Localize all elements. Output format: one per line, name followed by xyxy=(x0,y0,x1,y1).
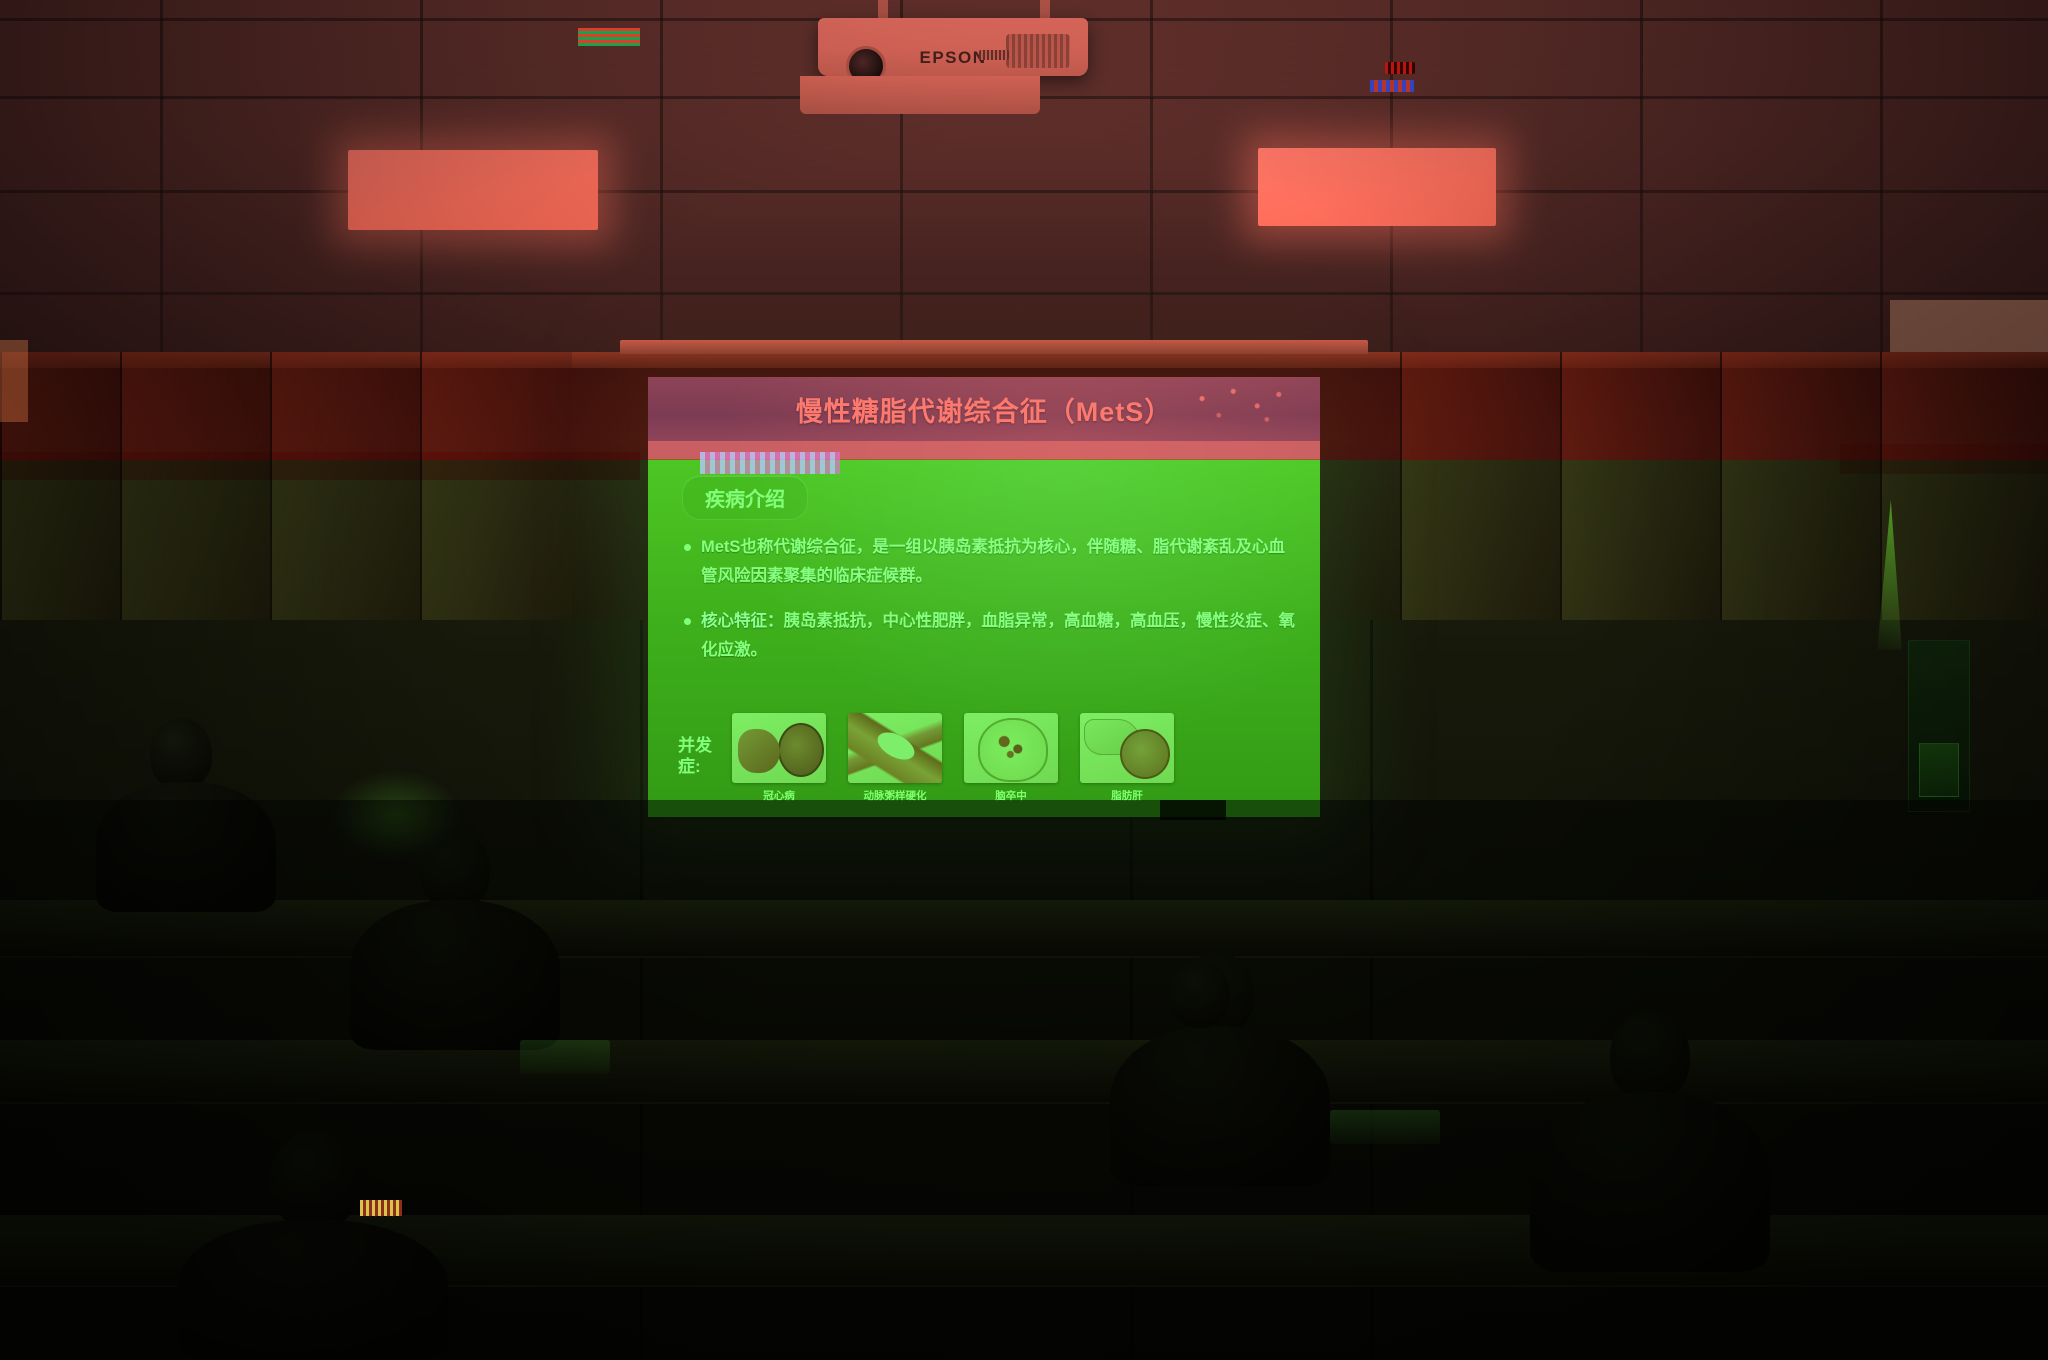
desk-row xyxy=(0,900,2048,958)
fatty-liver-image xyxy=(1080,713,1174,783)
audience-head xyxy=(1170,960,1230,1028)
complication-caption: 脂肪肝 xyxy=(1080,788,1174,803)
slide: 慢性糖脂代谢综合征（MetS） 疾病介绍 MetS也称代谢综合征，是一组以胰岛素… xyxy=(648,377,1320,817)
slide-title-bar: 慢性糖脂代谢综合征（MetS） xyxy=(648,377,1320,441)
slide-body: 疾病介绍 MetS也称代谢综合征，是一组以胰岛素抵抗为核心，伴随糖、脂代谢紊乱及… xyxy=(648,459,1320,817)
screen-housing xyxy=(620,340,1368,354)
audience-head xyxy=(270,1130,360,1230)
slide-section-badge: 疾病介绍 xyxy=(682,475,808,520)
projector-mount xyxy=(800,76,1040,114)
ceiling: EPSON xyxy=(0,0,2048,352)
slide-bullet-item: 核心特征：胰岛素抵抗，中心性肥胖，血脂异常，高血糖，高血压，慢性炎症、氧化应激。 xyxy=(684,607,1298,665)
complication-caption: 脑卒中 xyxy=(964,788,1058,803)
complication-caption: 动脉粥样硬化 xyxy=(848,788,942,803)
audience-body xyxy=(350,900,560,1050)
audience-head xyxy=(150,718,212,790)
wall-panel xyxy=(120,352,272,642)
stroke-image xyxy=(964,713,1058,783)
complication-item: 脂肪肝 xyxy=(1080,713,1174,803)
slide-bullet-list: MetS也称代谢综合征，是一组以胰岛素抵抗为核心，伴随糖、脂代谢紊乱及心血管风险… xyxy=(684,533,1298,681)
cabinet-panel xyxy=(1919,743,1959,797)
wall-panel xyxy=(1560,352,1722,642)
audience-body xyxy=(178,1220,448,1360)
projector: EPSON xyxy=(818,18,1088,76)
bullet-dot-icon xyxy=(684,544,691,551)
projector-brand-label: EPSON xyxy=(919,48,986,68)
slide-sub-bar xyxy=(648,441,1320,459)
slide-title: 慢性糖脂代谢综合征（MetS） xyxy=(796,390,1173,429)
wall-panel xyxy=(0,352,122,642)
slide-complications: 并发症: 冠心病 动脉粥样硬化 脑卒中 xyxy=(678,713,1302,803)
wall-panel xyxy=(1400,352,1562,642)
laptop-screen-glow xyxy=(1330,1110,1440,1144)
projector-badge-icon xyxy=(979,50,1009,60)
audience-body xyxy=(1110,1026,1330,1186)
slide-sparkle-decoration-icon xyxy=(1178,383,1298,435)
screenshot-canvas: EPSON 慢性糖脂代谢综合征（MetS） 疾病介绍 xyxy=(0,0,2048,1360)
complications-items: 冠心病 动脉粥样硬化 脑卒中 脂肪肝 xyxy=(732,713,1302,803)
complication-item: 脑卒中 xyxy=(964,713,1058,803)
desk-row xyxy=(0,1040,2048,1104)
status-led-indicator xyxy=(1385,62,1415,74)
slide-bullet-text: 核心特征：胰岛素抵抗，中心性肥胖，血脂异常，高血糖，高血压，慢性炎症、氧化应激。 xyxy=(701,607,1298,665)
complication-caption: 冠心病 xyxy=(732,788,826,803)
podium-light-glow xyxy=(330,770,460,860)
wall-panel xyxy=(1880,352,2048,642)
audience-head xyxy=(1610,1010,1690,1102)
slide-bullet-body: 胰岛素抵抗，中心性肥胖，血脂异常，高血糖，高血压，慢性炎症、氧化应激。 xyxy=(701,612,1295,659)
projection-screen: 慢性糖脂代谢综合征（MetS） 疾病介绍 MetS也称代谢综合征，是一组以胰岛素… xyxy=(648,377,1320,817)
atherosclerosis-image xyxy=(848,713,942,783)
wall-cabinet xyxy=(1908,640,1970,812)
complication-item: 冠心病 xyxy=(732,713,826,803)
wall-panel xyxy=(420,352,572,642)
slide-bullet-lead: 核心特征： xyxy=(701,612,784,630)
bullet-dot-icon xyxy=(684,618,691,625)
slide-bullet-text: MetS也称代谢综合征，是一组以胰岛素抵抗为核心，伴随糖、脂代谢紊乱及心血管风险… xyxy=(701,533,1298,591)
ceiling-light-panel-right xyxy=(1258,148,1496,226)
coronary-heart-disease-image xyxy=(732,713,826,783)
complication-item: 动脉粥样硬化 xyxy=(848,713,942,803)
audience-body xyxy=(1530,1092,1770,1272)
slide-bullet-item: MetS也称代谢综合征，是一组以胰岛素抵抗为核心，伴随糖、脂代谢紊乱及心血管风险… xyxy=(684,533,1298,591)
wall-panel xyxy=(1720,352,1882,642)
complications-label: 并发症: xyxy=(678,713,718,778)
status-led-indicator xyxy=(368,1205,398,1217)
wall-panel xyxy=(270,352,422,642)
ceiling-light-panel-left xyxy=(348,150,598,230)
projector-vent-icon xyxy=(1006,34,1070,68)
audience-body xyxy=(96,782,276,912)
laptop-screen-glow xyxy=(520,1040,610,1074)
